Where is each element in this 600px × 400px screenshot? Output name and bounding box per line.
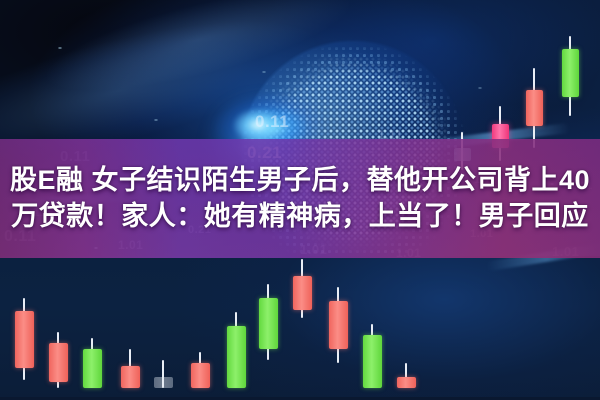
candlestick-body [191, 363, 210, 388]
candlestick [293, 259, 312, 318]
candlestick [526, 68, 543, 148]
candlestick [562, 36, 579, 116]
candlestick [49, 332, 68, 388]
candlestick [191, 352, 210, 388]
headline-text-block: 股E融 女子结识陌生男子后，替他开公司背上40 万贷款！家人：她有精神病，上当了… [0, 139, 600, 258]
candlestick-body [227, 326, 246, 388]
candlestick-body [15, 311, 34, 368]
thumbnail-image: 0.110.110.211.110.110.111.010.211.011.01… [0, 0, 600, 400]
candlestick-body [259, 298, 278, 348]
candlestick-body [83, 349, 102, 388]
candlestick [227, 312, 246, 388]
candlestick-body [526, 90, 543, 125]
candlestick-body [562, 49, 579, 97]
candlestick-body [293, 276, 312, 310]
candlestick-body [49, 343, 68, 382]
candlestick [15, 298, 34, 379]
headline-line-1: 股E融 女子结识陌生男子后，替他开公司背上40 [10, 165, 590, 197]
candlestick [329, 287, 348, 363]
candlestick-body [121, 366, 140, 388]
price-number: 0.11 [255, 112, 289, 132]
candlestick [397, 363, 416, 388]
candlestick [259, 284, 278, 360]
candlestick [121, 349, 140, 388]
headline-line-2: 万贷款！家人：她有精神病，上当了！男子回应 [11, 201, 589, 233]
candlestick [83, 338, 102, 388]
candlestick-body [154, 377, 173, 388]
candlestick [363, 324, 382, 388]
candlestick-body [329, 301, 348, 349]
candlestick [154, 360, 173, 388]
candlestick-body [397, 377, 416, 388]
candlestick-body [363, 335, 382, 388]
